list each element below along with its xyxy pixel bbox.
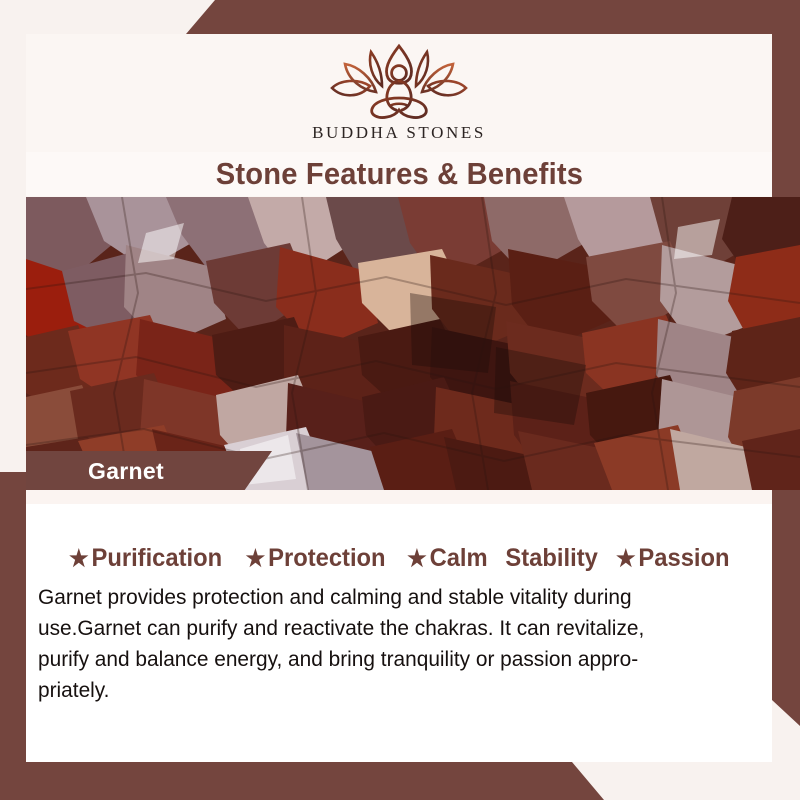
benefit-label: Passion (639, 544, 730, 573)
frame-left-bar (0, 472, 26, 800)
brand-name: BUDDHA STONES (312, 123, 486, 143)
benefit-label: Calm (430, 544, 488, 573)
star-icon: ★ (408, 547, 428, 570)
benefit-label: Protection (268, 544, 385, 573)
benefit-protection: ★ Protection (246, 544, 386, 573)
garnet-crystal-cluster-photo (26, 197, 800, 490)
stone-description: Garnet provides protection and calming a… (38, 582, 738, 706)
title-band: Stone Features & Benefits (26, 152, 772, 196)
description-line-1: Garnet provides protection and calming a… (38, 582, 738, 613)
brand-header: BUDDHA STONES (26, 34, 772, 146)
star-icon: ★ (616, 547, 636, 570)
benefit-calm: ★ Calm (408, 544, 489, 573)
content-panel: ★ Purification ★ Protection ★ Calm Stabi… (26, 490, 772, 762)
stone-info-poster: BUDDHA STONES Stone Features & Benefits (0, 0, 800, 800)
poster-card: BUDDHA STONES Stone Features & Benefits (26, 34, 772, 762)
benefit-label: Purification (92, 544, 223, 573)
content-top-strip (26, 490, 772, 504)
page-title: Stone Features & Benefits (215, 156, 582, 192)
star-icon: ★ (69, 547, 89, 570)
description-line-2: use.Garnet can purify and reactivate the… (38, 613, 738, 644)
description-line-3: purify and balance energy, and bring tra… (38, 644, 738, 675)
benefit-label: Stability (506, 544, 598, 573)
star-icon: ★ (246, 547, 266, 570)
benefit-purification: ★ Purification (69, 544, 222, 573)
lotus-meditation-figure-icon (324, 42, 474, 122)
frame-top-right-bar (0, 0, 800, 34)
benefit-stability: Stability (506, 544, 598, 573)
stone-name: Garnet (88, 458, 164, 485)
frame-bottom-bar (0, 762, 800, 800)
description-line-4: priately. (38, 675, 738, 706)
stone-name-ribbon: Garnet (26, 451, 272, 491)
benefit-passion: ★ Passion (616, 544, 730, 573)
benefits-list: ★ Purification ★ Protection ★ Calm Stabi… (26, 544, 772, 573)
